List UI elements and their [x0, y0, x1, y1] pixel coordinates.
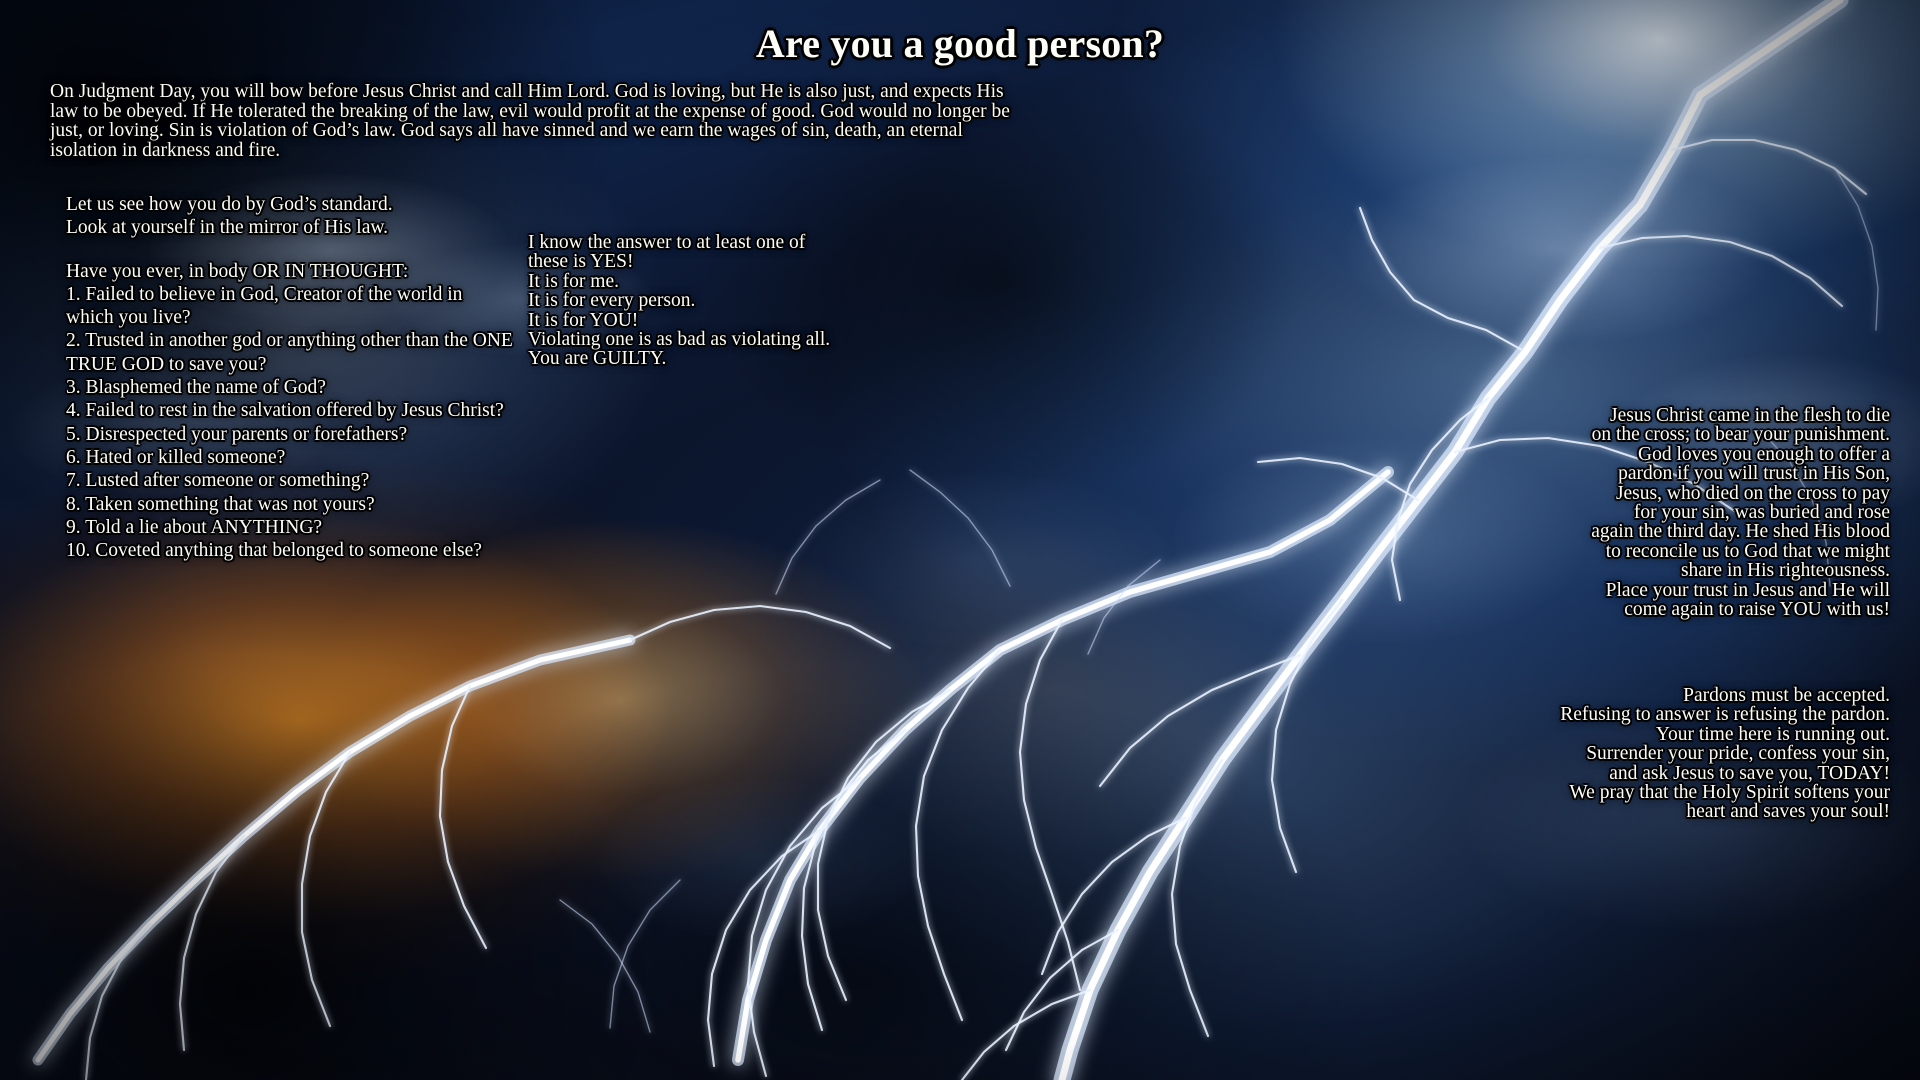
plea-paragraph: Pardons must be accepted. [1560, 686, 1890, 705]
list-item: 2. Trusted in another god or anything ot… [66, 329, 514, 376]
list-item: 4. Failed to rest in the salvation offer… [66, 399, 514, 422]
gospel-block: Jesus Christ came in the flesh to die on… [1590, 406, 1890, 619]
list-item: 6. Hated or killed someone? [66, 446, 514, 469]
list-item: 7. Lusted after someone or something? [66, 469, 514, 492]
plea-paragraph: Surrender your pride, confess your sin, … [1560, 744, 1890, 783]
law-spacer [66, 240, 514, 260]
page-title-text: Are you a good person? [756, 21, 1164, 66]
plea-paragraph: We pray that the Holy Spirit softens you… [1560, 783, 1890, 822]
guilty-line: Violating one is as bad as violating all… [528, 330, 868, 349]
intro-paragraph-text: On Judgment Day, you will bow before Jes… [50, 81, 1010, 161]
list-item: 3. Blasphemed the name of God? [66, 376, 514, 399]
plea-paragraph: Refusing to answer is refusing the pardo… [1560, 705, 1890, 724]
guilty-verdict-block: I know the answer to at least one of the… [528, 233, 868, 369]
gospel-paragraph: Jesus Christ came in the flesh to die on… [1590, 406, 1890, 445]
commandment-list: 1. Failed to believe in God, Creator of … [66, 283, 514, 563]
law-section: Let us see how you do by God’s standard.… [66, 193, 514, 562]
list-item: 9. Told a lie about ANYTHING? [66, 516, 514, 539]
gospel-paragraph: Place your trust in Jesus and He will co… [1590, 581, 1890, 620]
page-title: Are you a good person? [0, 20, 1920, 67]
law-question-prompt: Have you ever, in body OR IN THOUGHT: [66, 260, 514, 283]
guilty-line: It is for me. [528, 272, 868, 291]
law-lead-line-2: Look at yourself in the mirror of His la… [66, 216, 514, 239]
guilty-line: these is YES! [528, 252, 868, 271]
list-item: 8. Taken something that was not yours? [66, 493, 514, 516]
gospel-paragraph: God loves you enough to offer a pardon i… [1590, 445, 1890, 581]
guilty-line: It is for every person. [528, 291, 868, 310]
law-lead-line-1: Let us see how you do by God’s standard. [66, 193, 514, 216]
intro-paragraph: On Judgment Day, you will bow before Jes… [50, 82, 1025, 160]
guilty-line: You are GUILTY. [528, 349, 868, 368]
plea-paragraph: Your time here is running out. [1560, 725, 1890, 744]
guilty-line: It is for YOU! [528, 311, 868, 330]
list-item: 10. Coveted anything that belonged to so… [66, 539, 514, 562]
list-item: 5. Disrespected your parents or forefath… [66, 423, 514, 446]
guilty-line: I know the answer to at least one of [528, 233, 868, 252]
list-item: 1. Failed to believe in God, Creator of … [66, 283, 514, 330]
plea-block: Pardons must be accepted. Refusing to an… [1560, 686, 1890, 822]
poster-canvas: Are you a good person? On Judgment Day, … [0, 0, 1920, 1080]
